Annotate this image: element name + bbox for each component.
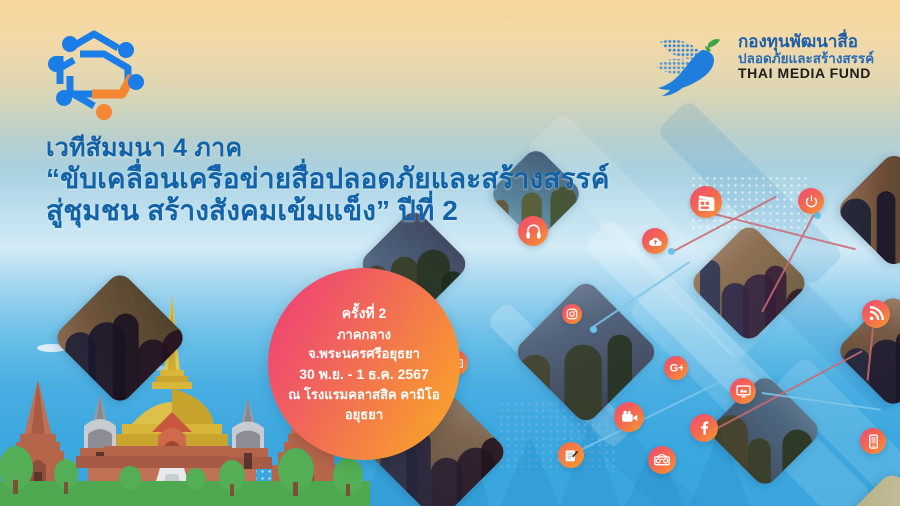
photo-content bbox=[835, 151, 900, 270]
facebook-icon[interactable] bbox=[690, 414, 718, 442]
dove-icon bbox=[650, 26, 736, 112]
photo-two-men bbox=[835, 151, 900, 270]
dove-logo-line3: THAI MEDIA FUND bbox=[738, 66, 874, 82]
rss-icon[interactable] bbox=[862, 300, 890, 328]
dove-logo-line2: ปลอดภัยและสร้างสรรค์ bbox=[738, 51, 874, 66]
photo-figure bbox=[895, 331, 900, 409]
photo-content bbox=[824, 470, 900, 506]
event-detail-badge: ครั้งที่ 2ภาคกลางจ.พระนครศรีอยุธยา30 พ.ย… bbox=[268, 268, 460, 460]
photo-figure bbox=[787, 289, 810, 344]
clapperboard-icon[interactable] bbox=[690, 186, 722, 218]
thai-media-fund-dove-logo: กองทุนพัฒนาสื่อ ปลอดภัยและสร้างสรรค์ THA… bbox=[650, 26, 876, 116]
photo-figure bbox=[765, 266, 787, 344]
dove-logo-line1: กองทุนพัฒนาสื่อ bbox=[738, 32, 874, 51]
thai-media-fund-hexagon-logo bbox=[36, 20, 152, 130]
svg-text:G+: G+ bbox=[670, 363, 683, 375]
instagram-icon[interactable] bbox=[562, 304, 582, 324]
photo-content bbox=[688, 222, 810, 344]
photo-figure bbox=[841, 199, 871, 269]
badge-line-3: จ.พระนครศรีอยุธยา bbox=[308, 344, 420, 364]
monitor-icon[interactable] bbox=[730, 378, 756, 404]
title-line-2: “ขับเคลื่อนเครือข่ายสื่อปลอดภัยและสร้างส… bbox=[46, 163, 610, 195]
badge-line-6: อยุธยา bbox=[345, 405, 383, 425]
photo-content bbox=[707, 373, 823, 489]
photo-two-people-seated bbox=[707, 373, 823, 489]
page-title: เวทีสัมมนา 4 ภาค “ขับเคลื่อนเครือข่ายสื่… bbox=[46, 134, 610, 228]
photo-figure bbox=[520, 355, 550, 426]
boombox-icon[interactable] bbox=[648, 446, 676, 474]
connector-node bbox=[590, 326, 597, 333]
photo-figure bbox=[564, 345, 601, 426]
cloud-upload-icon[interactable] bbox=[642, 228, 668, 254]
photo-content bbox=[512, 278, 659, 425]
badge-line-5: ณ โรงแรมคลาสสิค คามิโอ bbox=[288, 385, 439, 405]
video-camera-icon[interactable] bbox=[614, 402, 644, 432]
connector-node bbox=[668, 248, 675, 255]
photo-figure bbox=[699, 259, 720, 343]
badge-line-2: ภาคกลาง bbox=[337, 325, 391, 345]
title-line-3: สู่ชุมชน สร้างสังคมเข้มแข็ง” ปีที่ 2 bbox=[46, 195, 610, 227]
photo-man-presenting bbox=[512, 278, 659, 425]
power-icon[interactable] bbox=[798, 188, 824, 214]
title-line-1: เวทีสัมมนา 4 ภาค bbox=[46, 134, 610, 163]
event-poster: กองทุนพัฒนาสื่อ ปลอดภัยและสร้างสรรค์ THA… bbox=[0, 0, 900, 506]
photo-workshop-board bbox=[824, 470, 900, 506]
photo-figure bbox=[482, 438, 508, 506]
photo-figure bbox=[876, 191, 895, 270]
badge-line-1: ครั้งที่ 2 bbox=[342, 303, 387, 324]
notepad-pen-icon[interactable] bbox=[558, 442, 584, 468]
connector-line bbox=[590, 261, 690, 329]
mobile-phone-icon[interactable] bbox=[860, 428, 886, 454]
photo-figure bbox=[748, 438, 772, 489]
photo-couple-greeting bbox=[688, 222, 810, 344]
photo-figure bbox=[782, 430, 812, 489]
badge-line-4: 30 พ.ย. - 1 ธ.ค. 2567 bbox=[299, 364, 429, 385]
google-plus-icon[interactable]: G+ bbox=[664, 356, 688, 380]
